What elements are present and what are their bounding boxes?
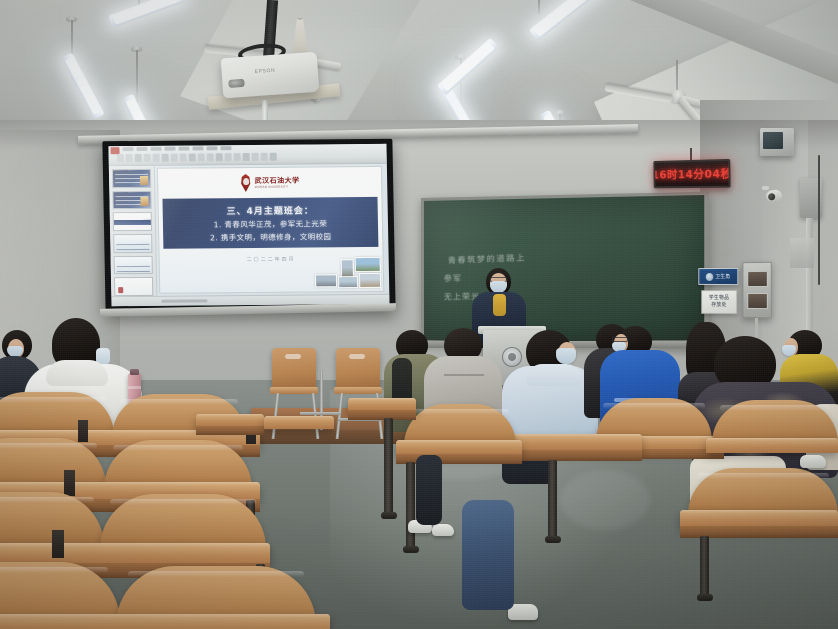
slide-title: 三、4月主题班会： [226, 203, 314, 217]
slide-bullet-2: 2. 携手文明，明德修身，文明校园 [210, 231, 332, 243]
desk-leg [700, 536, 709, 596]
sign-emblem-icon [706, 273, 714, 281]
thermos-band [128, 386, 141, 389]
white-sign-line-2: 存放处 [711, 302, 726, 310]
slide-photo-collage [311, 257, 382, 290]
student-shoe [432, 524, 454, 536]
slide-thumbnail[interactable] [113, 212, 152, 231]
classroom-photo: EPSON [0, 0, 838, 629]
slide-thumbnail[interactable] [112, 169, 151, 188]
wall-display-unit [760, 128, 794, 156]
desk-top-platform-left2 [264, 416, 334, 429]
electrical-panel[interactable] [742, 262, 771, 318]
university-crest-icon [240, 174, 252, 192]
utility-cable [818, 155, 820, 285]
chalk-line-2: 参军 [444, 273, 462, 284]
projector-brand-label: EPSON [255, 68, 276, 75]
projection-screen: 武汉石油大学 WUHAN UNIVERSITY 三、4月主题班会： 1. 青春风… [102, 139, 395, 313]
chair-backrest [272, 348, 316, 388]
desk-top-center-left [396, 440, 522, 455]
panel-window-upper [747, 271, 768, 287]
desk-gap-row-a [78, 420, 88, 442]
slide-photo [355, 257, 381, 272]
presenter-inner-top [493, 294, 506, 316]
projector-lens [228, 79, 245, 88]
desk-top-row-d [0, 614, 330, 629]
blue-sign-text: 卫生角 [715, 273, 730, 280]
university-name-en: WUHAN UNIVERSITY [255, 185, 300, 188]
student-jeans [462, 500, 514, 610]
ribbon-icons[interactable] [117, 153, 277, 162]
white-sign-line-1: 学生物品 [709, 294, 730, 302]
blue-wall-sign: 卫生角 [698, 268, 738, 285]
slide-thumbnail[interactable] [114, 256, 153, 275]
desk-leg [548, 460, 557, 538]
cctv-mount [762, 186, 769, 190]
slide-thumbnail[interactable] [114, 277, 153, 296]
desk-gap-row-c [52, 530, 64, 558]
slide-date: 二〇二二年四月 [247, 256, 296, 263]
desk-leg-foot [697, 594, 713, 601]
desk-face-right-wall [348, 410, 416, 420]
slide-photo [338, 276, 358, 288]
wall-display-screen [763, 132, 783, 149]
ceiling-projector: EPSON [221, 52, 320, 99]
university-logo: 武汉石油大学 WUHAN UNIVERSITY [240, 174, 300, 193]
hoodie-hood [526, 364, 582, 386]
ribbon-divider [115, 162, 381, 165]
slide-bullet-1: 1. 青春风华正茂，参军无上光荣 [214, 218, 328, 230]
university-name-cn: 武汉石油大学 [255, 177, 300, 184]
chair-backrest [336, 348, 380, 388]
desk-top-right [706, 438, 838, 453]
screen-surface: 武汉石油大学 WUHAN UNIVERSITY 三、4月主题班会： 1. 青春风… [108, 144, 389, 306]
desk-leg-foot [403, 546, 419, 553]
slide-photo [315, 274, 337, 287]
desk-leg [406, 462, 415, 548]
desk-leg-foot [545, 536, 561, 543]
desk-leg [384, 418, 393, 514]
slide-thumbnail-panel[interactable] [109, 166, 157, 296]
ribbon-tabs[interactable] [122, 146, 231, 151]
led-clock: 16时14分04秒 [653, 159, 730, 188]
slide-thumbnail[interactable] [113, 234, 152, 253]
blackboard-sheen [424, 195, 704, 346]
floor-highlight [560, 470, 650, 530]
desk-gap-row-b [64, 470, 75, 496]
desk-face-platform-left [196, 426, 264, 435]
status-text-placeholder [161, 299, 207, 302]
desk-leg-foot [381, 512, 397, 519]
screen-frame: 武汉石油大学 WUHAN UNIVERSITY 三、4月主题班会： 1. 青春风… [102, 139, 395, 313]
thumbnail-logo-icon [118, 287, 123, 293]
slide-thumbnail[interactable] [112, 191, 151, 210]
student-face-mask [556, 348, 576, 364]
white-wall-sign: 学生物品 存放处 [701, 290, 737, 314]
thermos-cap [130, 369, 139, 375]
right-wall-poster [790, 238, 814, 268]
slide-banner: 三、4月主题班会： 1. 青春风华正茂，参军无上光荣 2. 携手文明，明德修身，… [162, 197, 378, 249]
student-dark-leg [416, 455, 442, 525]
chair-cross-rail [300, 412, 340, 415]
panel-window-lower [747, 293, 768, 309]
jacket-seam [444, 374, 484, 376]
powerpoint-ribbon[interactable] [108, 144, 386, 166]
student-shoe [800, 455, 826, 468]
led-clock-text: 16时14分04秒 [653, 165, 730, 182]
hoodie-hood [46, 360, 108, 386]
active-slide[interactable]: 武汉石油大学 WUHAN UNIVERSITY 三、4月主题班会： 1. 青春风… [157, 166, 384, 294]
light-rod [538, 0, 540, 14]
slide-photo [359, 273, 381, 288]
